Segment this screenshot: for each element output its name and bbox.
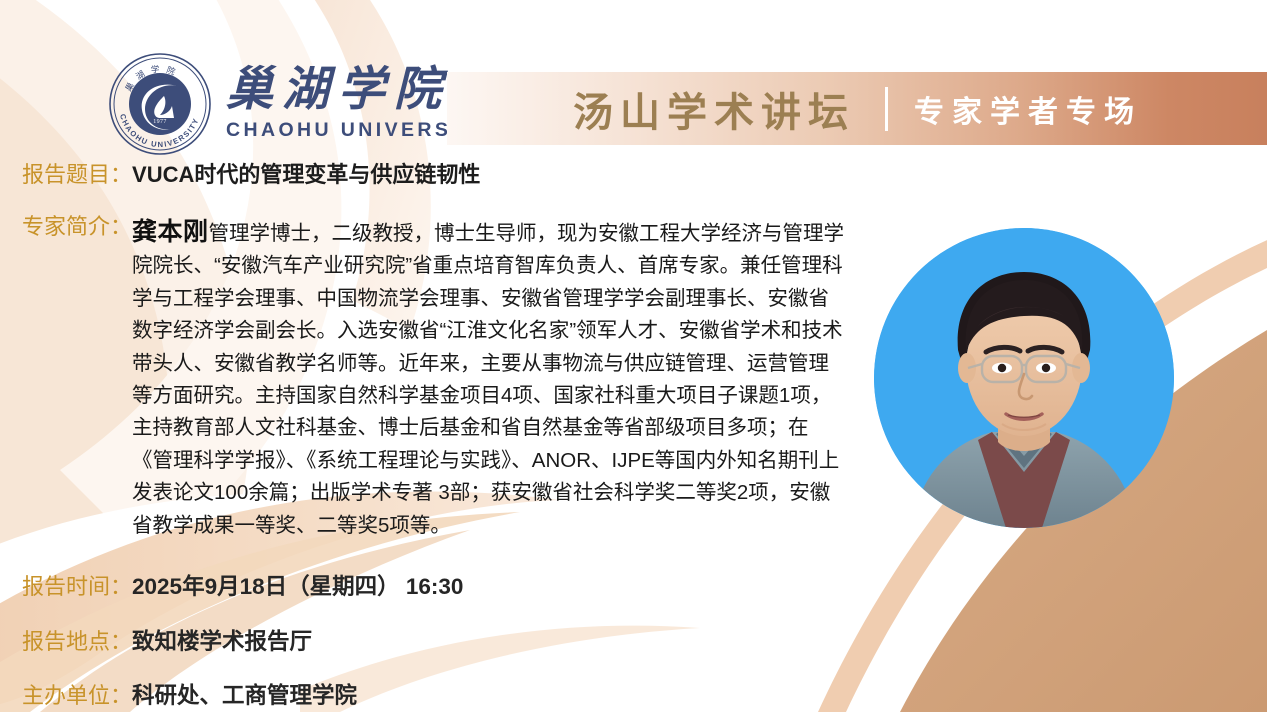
- row-report-time: 报告时间： 2025年9月18日（星期四） 16:30: [22, 572, 463, 602]
- speaker-portrait: [874, 228, 1174, 528]
- label-report-place: 报告地点：: [22, 627, 132, 657]
- value-report-time: 2025年9月18日（星期四） 16:30: [132, 572, 463, 602]
- value-report-title: VUCA时代的管理变革与供应链韧性: [132, 160, 480, 190]
- label-host-organization: 主办单位：: [22, 681, 132, 711]
- row-report-title: 报告题目： VUCA时代的管理变革与供应链韧性: [22, 160, 480, 190]
- row-speaker-bio: 专家简介： 龚本刚管理学博士，二级教授，博士生导师，现为安徽工程大学经济与管理学…: [22, 212, 882, 542]
- speaker-portrait-image: [874, 228, 1174, 528]
- row-host-organization: 主办单位： 科研处、工商管理学院: [22, 681, 357, 711]
- label-report-time: 报告时间：: [22, 572, 132, 602]
- row-report-place: 报告地点： 致知楼学术报告厅: [22, 627, 312, 657]
- speaker-name: 龚本刚: [132, 218, 209, 246]
- speaker-bio-body: 龚本刚管理学博士，二级教授，博士生导师，现为安徽工程大学经济与管理学院院长、“安…: [132, 212, 848, 542]
- value-report-place: 致知楼学术报告厅: [132, 627, 312, 657]
- label-speaker-bio: 专家简介：: [22, 212, 132, 242]
- value-host-organization: 科研处、工商管理学院: [132, 681, 357, 711]
- speaker-bio-text: 管理学博士，二级教授，博士生导师，现为安徽工程大学经济与管理学院院长、“安徽汽车…: [132, 222, 844, 537]
- lecture-poster: 1977 巢 湖 学 院 CHAOHU UNIVERSITY 巢湖学院 CHAO…: [0, 0, 1267, 712]
- label-report-title: 报告题目：: [22, 160, 132, 190]
